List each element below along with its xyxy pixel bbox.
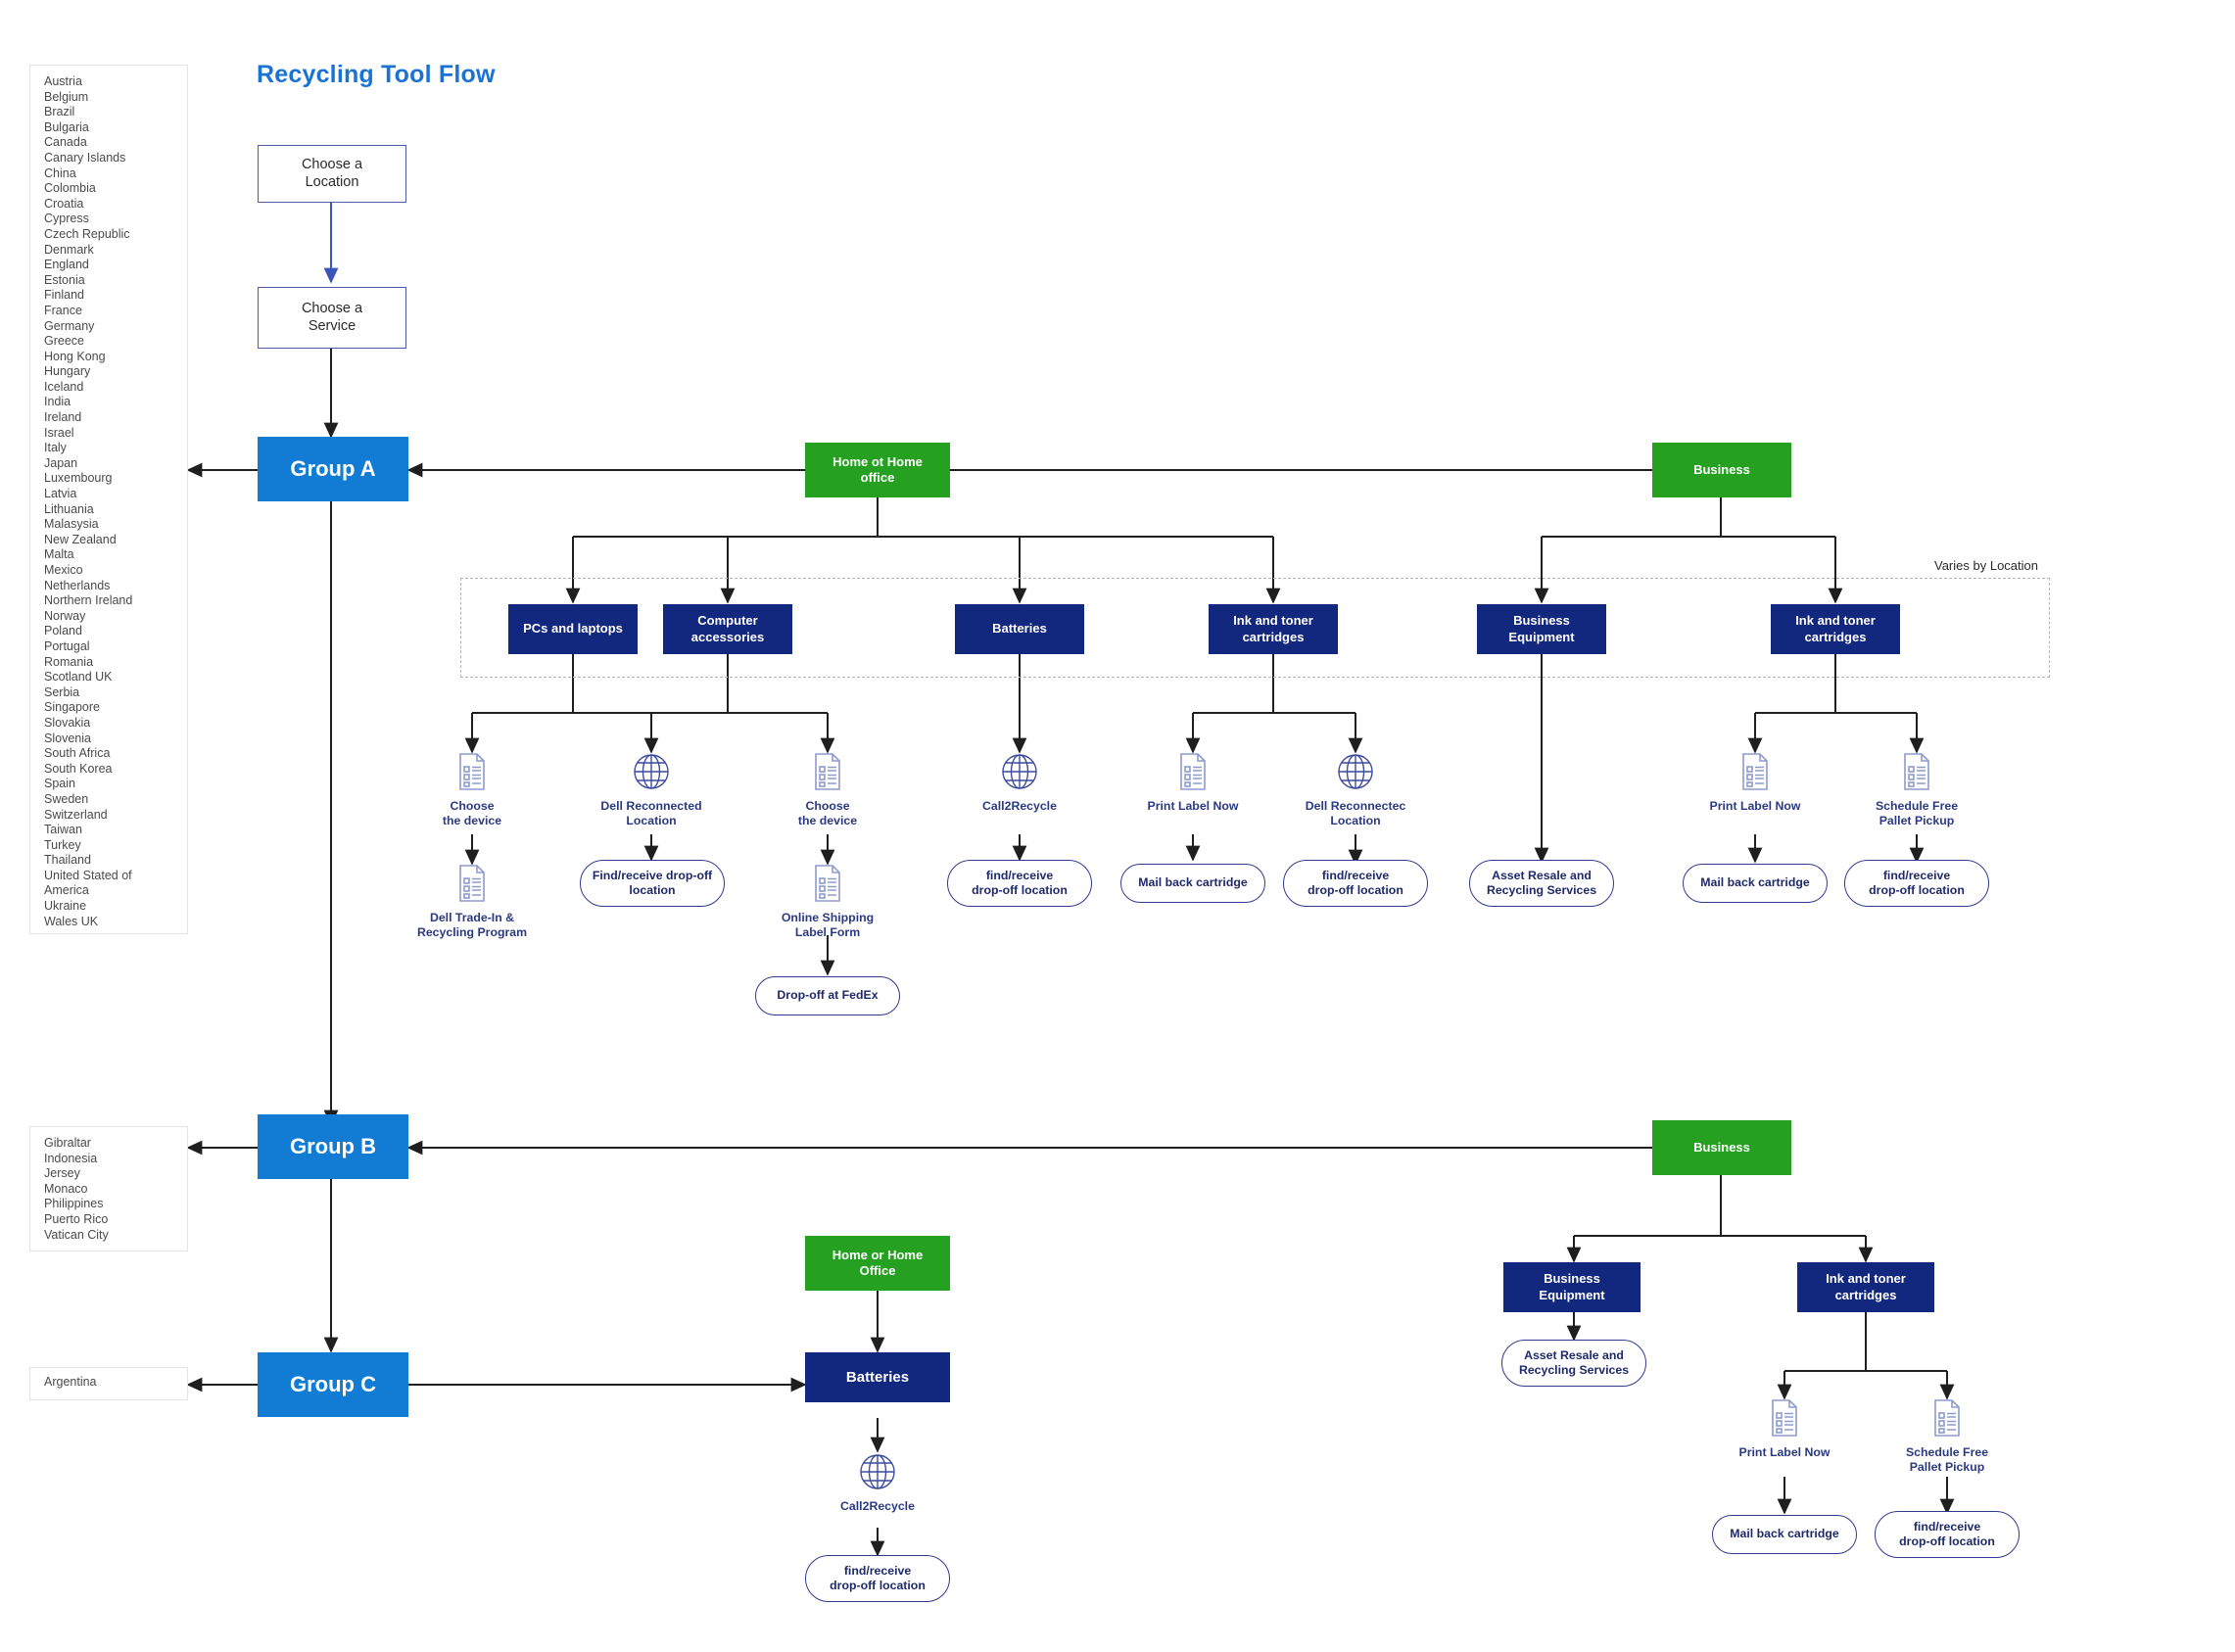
online-shipping-label-form-label: Online Shipping Label Form xyxy=(749,911,906,941)
sfp-b-line1: Schedule Free xyxy=(1906,1445,1988,1459)
asset-resale-pill-b[interactable]: Asset Resale and Recycling Services xyxy=(1501,1340,1646,1387)
country-list-item: Czech Republic xyxy=(44,227,187,243)
country-list-item: Malta xyxy=(44,547,187,563)
country-list-item: India xyxy=(44,395,187,410)
fr2-line1: find/receive xyxy=(986,869,1053,882)
sfp-a-line1: Schedule Free xyxy=(1876,799,1958,813)
call2recycle-label-c: Call2Recycle xyxy=(799,1499,956,1514)
country-list-item: Iceland xyxy=(44,380,187,396)
cd1-line2: the device xyxy=(443,814,501,827)
country-list-item: Ireland xyxy=(44,410,187,426)
category-ink-business-line2: cartridges xyxy=(1805,630,1867,644)
arb-line2: Recycling Services xyxy=(1519,1363,1629,1377)
country-list-item: Northern Ireland xyxy=(44,593,187,609)
country-list-item: France xyxy=(44,304,187,319)
group-a-business-label: Business xyxy=(1693,462,1750,478)
sfp-a-line2: Pallet Pickup xyxy=(1879,814,1955,827)
country-list-item: Jersey xyxy=(44,1166,187,1182)
category-pcs-label: PCs and laptops xyxy=(523,621,623,637)
country-list-item: Thailand xyxy=(44,853,187,869)
fr-b-line2: drop-off location xyxy=(1899,1534,1995,1548)
country-list-item: England xyxy=(44,258,187,273)
country-list-item: Spain xyxy=(44,777,187,792)
gb-ink-line1: Ink and toner xyxy=(1826,1271,1906,1286)
cd1-line1: Choose xyxy=(450,799,494,813)
find-receive-dropoff-pill-2[interactable]: find/receive drop-off location xyxy=(947,860,1092,907)
country-list-item: Norway xyxy=(44,609,187,625)
country-list-item: Turkey xyxy=(44,838,187,854)
osl-line2: Label Form xyxy=(795,925,860,939)
category-business-equipment[interactable]: Business Equipment xyxy=(1477,604,1606,654)
fedex-label: Drop-off at FedEx xyxy=(777,988,878,1003)
ara-line2: Recycling Services xyxy=(1487,883,1596,897)
group-a-label: Group A xyxy=(290,456,375,482)
globe-icon[interactable] xyxy=(1334,750,1377,793)
category-ink-home-line2: cartridges xyxy=(1243,630,1305,644)
gb-be-line2: Equipment xyxy=(1539,1288,1604,1302)
choose-the-device-1-label: Choose the device xyxy=(404,799,541,829)
group-a-box[interactable]: Group A xyxy=(258,437,408,501)
country-list-item: Vatican City xyxy=(44,1228,187,1244)
country-list-item: Poland xyxy=(44,624,187,639)
print-label-now-label-b: Print Label Now xyxy=(1706,1445,1863,1460)
find-receive-dropoff-pill-c[interactable]: find/receive drop-off location xyxy=(805,1555,950,1602)
dell-reconnectec-location-label: Dell Reconnectec Location xyxy=(1277,799,1434,829)
country-list-item: Finland xyxy=(44,288,187,304)
arb-line1: Asset Resale and xyxy=(1524,1348,1624,1362)
drc-line1: Dell Reconnectec xyxy=(1306,799,1406,813)
country-list-item: Slovenia xyxy=(44,732,187,747)
category-ink-business-line1: Ink and toner xyxy=(1795,613,1876,628)
country-list-item: Slovakia xyxy=(44,716,187,732)
cd2-line2: the device xyxy=(798,814,857,827)
mbc-b-label: Mail back cartridge xyxy=(1730,1527,1838,1541)
country-list-item: Malasysia xyxy=(44,517,187,533)
home-office-line2: office xyxy=(861,470,895,485)
find-receive-dropoff-pill-b[interactable]: find/receive drop-off location xyxy=(1875,1511,2020,1558)
dropoff-at-fedex-pill[interactable]: Drop-off at FedEx xyxy=(755,976,900,1015)
globe-icon[interactable] xyxy=(856,1450,899,1493)
document-icon[interactable] xyxy=(1734,750,1777,793)
page-title: Recycling Tool Flow xyxy=(257,61,496,89)
country-list-item: Singapore xyxy=(44,700,187,716)
sfp-b-line2: Pallet Pickup xyxy=(1910,1460,1985,1474)
gc-batteries-label: Batteries xyxy=(846,1368,909,1387)
print-label-now-label-a1: Print Label Now xyxy=(1115,799,1271,814)
fr3-line2: drop-off location xyxy=(1308,883,1403,897)
category-batteries-label: Batteries xyxy=(992,621,1047,637)
country-list-item: New Zealand xyxy=(44,533,187,548)
country-list-item: Serbia xyxy=(44,685,187,701)
category-business-equipment-line2: Equipment xyxy=(1508,630,1574,644)
country-list-item: Puerto Rico xyxy=(44,1212,187,1228)
choose-service-box[interactable]: Choose a Service xyxy=(258,287,406,349)
drl-line1: Dell Reconnected xyxy=(600,799,701,813)
country-list-item: America xyxy=(44,883,187,899)
country-list-item: Israel xyxy=(44,426,187,442)
country-list-item: Canary Islands xyxy=(44,151,187,166)
country-list-item: Bulgaria xyxy=(44,120,187,136)
country-list-item: Japan xyxy=(44,456,187,472)
cd2-line1: Choose xyxy=(805,799,849,813)
choose-location-line1: Choose a xyxy=(302,157,362,172)
find-receive-dropoff-pill-3[interactable]: find/receive drop-off location xyxy=(1283,860,1428,907)
category-batteries[interactable]: Batteries xyxy=(955,604,1084,654)
country-list-item: Switzerland xyxy=(44,808,187,824)
country-list-item: Belgium xyxy=(44,90,187,106)
asset-resale-pill-a[interactable]: Asset Resale and Recycling Services xyxy=(1469,860,1614,907)
home-office-line1: Home ot Home xyxy=(832,454,923,469)
country-list-item: Estonia xyxy=(44,273,187,289)
group-c-label: Group C xyxy=(290,1372,376,1397)
country-list-item: Greece xyxy=(44,334,187,350)
mail-back-cartridge-pill-2[interactable]: Mail back cartridge xyxy=(1683,864,1828,903)
call2recycle-label-a: Call2Recycle xyxy=(941,799,1098,814)
document-icon[interactable] xyxy=(451,862,494,905)
country-list-item: Ukraine xyxy=(44,899,187,915)
drc-line2: Location xyxy=(1330,814,1380,827)
frd1-line2: location xyxy=(629,883,675,897)
category-ink-and-toner-home[interactable]: Ink and toner cartridges xyxy=(1209,604,1338,654)
gb-ink-line2: cartridges xyxy=(1835,1288,1897,1302)
group-c-box[interactable]: Group C xyxy=(258,1352,408,1417)
group-b-business-box[interactable]: Business xyxy=(1652,1120,1791,1175)
diagram-canvas: Recycling Tool Flow AustriaBelgiumBrazil… xyxy=(0,0,2235,1652)
country-list-item: China xyxy=(44,166,187,182)
category-computer-accessories[interactable]: Computer accessories xyxy=(663,604,792,654)
schedule-free-pallet-pickup-label-b: Schedule Free Pallet Pickup xyxy=(1869,1445,2025,1476)
category-pcs-and-laptops[interactable]: PCs and laptops xyxy=(508,604,638,654)
mbc2-label: Mail back cartridge xyxy=(1700,875,1809,890)
country-list-item: Netherlands xyxy=(44,579,187,594)
country-list-item: South Africa xyxy=(44,746,187,762)
mbc1-label: Mail back cartridge xyxy=(1138,875,1247,890)
choose-location-box[interactable]: Choose a Location xyxy=(258,145,406,203)
dell-trade-in-recycling-program-label: Dell Trade-In & Recycling Program xyxy=(394,911,550,941)
document-icon[interactable] xyxy=(1895,750,1938,793)
ara-line1: Asset Resale and xyxy=(1492,869,1592,882)
fr2-line2: drop-off location xyxy=(972,883,1068,897)
fr-b-line1: find/receive xyxy=(1914,1520,1980,1534)
country-list-item: Brazil xyxy=(44,105,187,120)
fr3-line1: find/receive xyxy=(1322,869,1389,882)
country-list-item: Indonesia xyxy=(44,1152,187,1167)
country-list-item: Latvia xyxy=(44,487,187,502)
dti-line1: Dell Trade-In & xyxy=(430,911,514,924)
country-list-item: Monaco xyxy=(44,1182,187,1198)
osl-line1: Online Shipping xyxy=(782,911,874,924)
gb-be-line1: Business xyxy=(1544,1271,1600,1286)
category-business-equipment-line1: Business xyxy=(1513,613,1570,628)
group-b-label: Group B xyxy=(290,1134,376,1159)
country-list-item: Cypress xyxy=(44,212,187,227)
country-list-item: Mexico xyxy=(44,563,187,579)
document-icon[interactable] xyxy=(806,862,849,905)
country-list-item: Colombia xyxy=(44,181,187,197)
choose-service-line1: Choose a xyxy=(302,301,362,316)
country-list-item: Denmark xyxy=(44,243,187,259)
country-list-item: Luxembourg xyxy=(44,471,187,487)
fr4-line2: drop-off location xyxy=(1869,883,1965,897)
frd1-line1: Find/receive drop-off xyxy=(593,869,712,882)
group-c-batteries-box[interactable]: Batteries xyxy=(805,1352,950,1402)
group-b-business-label: Business xyxy=(1693,1140,1750,1156)
choose-service-line2: Service xyxy=(309,318,356,334)
country-list-item: Austria xyxy=(44,74,187,90)
choose-the-device-2-label: Choose the device xyxy=(759,799,896,829)
mail-back-cartridge-pill-b[interactable]: Mail back cartridge xyxy=(1712,1515,1857,1554)
document-icon[interactable] xyxy=(1763,1396,1806,1440)
schedule-free-pallet-pickup-label-a: Schedule Free Pallet Pickup xyxy=(1838,799,1995,829)
choose-location-line2: Location xyxy=(306,174,359,190)
print-label-now-label-a2: Print Label Now xyxy=(1677,799,1833,814)
country-list-item: Scotland UK xyxy=(44,670,187,685)
country-list-item: Gibraltar xyxy=(44,1136,187,1152)
dell-reconnected-location-label: Dell Reconnected Location xyxy=(573,799,730,829)
mail-back-cartridge-pill-1[interactable]: Mail back cartridge xyxy=(1120,864,1265,903)
varies-by-location-label: Varies by Location xyxy=(1934,558,2038,573)
find-receive-dropoff-pill-4[interactable]: find/receive drop-off location xyxy=(1844,860,1989,907)
country-list-item: Germany xyxy=(44,319,187,335)
fr-c-line2: drop-off location xyxy=(830,1579,926,1592)
country-list-item: Croatia xyxy=(44,197,187,212)
country-list-item: Hong Kong xyxy=(44,350,187,365)
group-a-home-office-box[interactable]: Home ot Home office xyxy=(805,443,950,497)
country-list-item: Portugal xyxy=(44,639,187,655)
gc-ho-line1: Home or Home xyxy=(832,1248,923,1262)
document-icon[interactable] xyxy=(806,750,849,793)
country-list-group-c: Argentina xyxy=(29,1367,188,1400)
country-list-item: Lithuania xyxy=(44,502,187,518)
country-list-item: Sweden xyxy=(44,792,187,808)
country-list-item: Wales UK xyxy=(44,915,187,930)
country-list-item: Philippines xyxy=(44,1197,187,1212)
country-list-group-a: AustriaBelgiumBrazilBulgariaCanadaCanary… xyxy=(29,65,188,934)
group-a-business-box[interactable]: Business xyxy=(1652,443,1791,497)
dti-line2: Recycling Program xyxy=(417,925,527,939)
group-b-business-equipment-box[interactable]: Business Equipment xyxy=(1503,1262,1641,1312)
category-accessories-line1: Computer xyxy=(697,613,757,628)
country-list-item: South Korea xyxy=(44,762,187,778)
country-list-group-b: GibraltarIndonesiaJerseyMonacoPhilippine… xyxy=(29,1126,188,1251)
group-b-box[interactable]: Group B xyxy=(258,1114,408,1179)
group-c-home-office-box[interactable]: Home or Home Office xyxy=(805,1236,950,1291)
country-list-item: Italy xyxy=(44,441,187,456)
fr4-line1: find/receive xyxy=(1883,869,1950,882)
country-list-item: Argentina xyxy=(44,1375,187,1391)
country-list-item: Romania xyxy=(44,655,187,671)
globe-icon[interactable] xyxy=(630,750,673,793)
country-list-item: Hungary xyxy=(44,364,187,380)
country-list-item: Taiwan xyxy=(44,823,187,838)
gc-ho-line2: Office xyxy=(860,1263,896,1278)
fr-c-line1: find/receive xyxy=(844,1564,911,1578)
drl-line2: Location xyxy=(626,814,676,827)
category-accessories-line2: accessories xyxy=(691,630,764,644)
find-receive-dropoff-pill-1[interactable]: Find/receive drop-off location xyxy=(580,860,725,907)
country-list-item: Canada xyxy=(44,135,187,151)
country-list-item: United Stated of xyxy=(44,869,187,884)
category-ink-and-toner-business[interactable]: Ink and toner cartridges xyxy=(1771,604,1900,654)
globe-icon[interactable] xyxy=(998,750,1041,793)
category-ink-home-line1: Ink and toner xyxy=(1233,613,1313,628)
document-icon[interactable] xyxy=(1171,750,1214,793)
document-icon[interactable] xyxy=(1926,1396,1969,1440)
group-b-ink-and-toner-box[interactable]: Ink and toner cartridges xyxy=(1797,1262,1934,1312)
document-icon[interactable] xyxy=(451,750,494,793)
